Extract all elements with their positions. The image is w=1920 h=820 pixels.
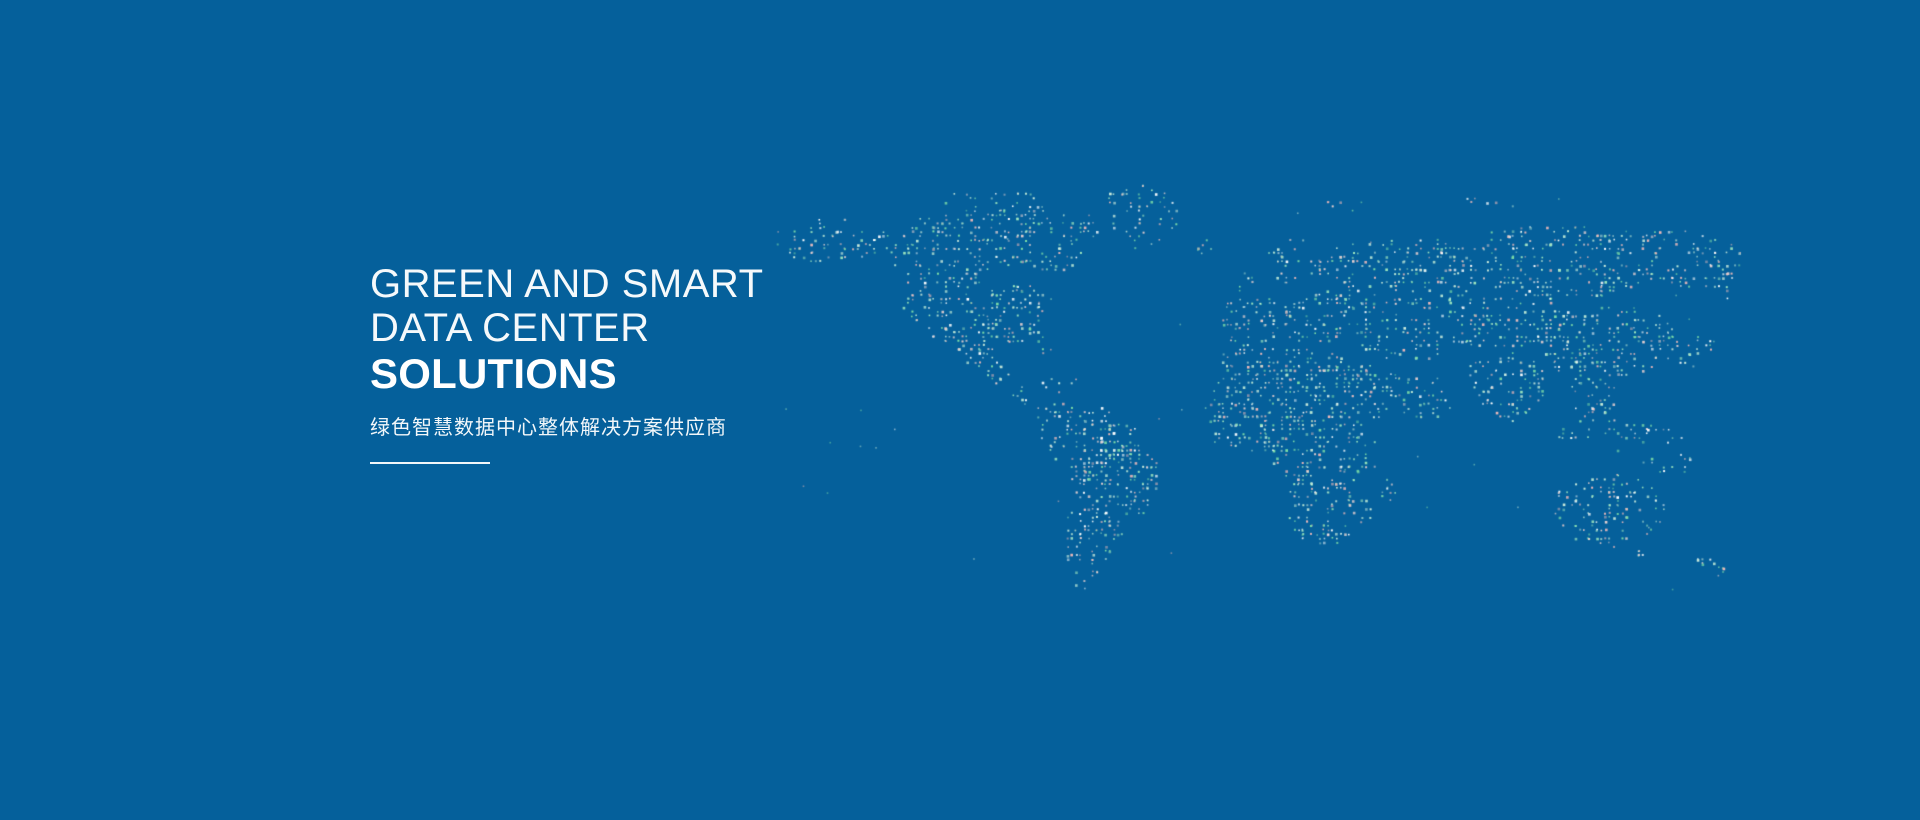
hero-banner: GREEN AND SMART DATA CENTER SOLUTIONS 绿色… (0, 0, 1920, 820)
world-map-canvas (0, 0, 1920, 820)
hero-text-block: GREEN AND SMART DATA CENTER SOLUTIONS 绿色… (370, 262, 890, 464)
hero-divider-rule (370, 462, 490, 464)
dotted-world-map (0, 0, 1920, 820)
hero-subtitle: 绿色智慧数据中心整体解决方案供应商 (370, 414, 890, 440)
headline-line-3: SOLUTIONS (370, 350, 890, 398)
headline-line-2: DATA CENTER (370, 306, 890, 350)
headline-line-1: GREEN AND SMART (370, 262, 890, 306)
